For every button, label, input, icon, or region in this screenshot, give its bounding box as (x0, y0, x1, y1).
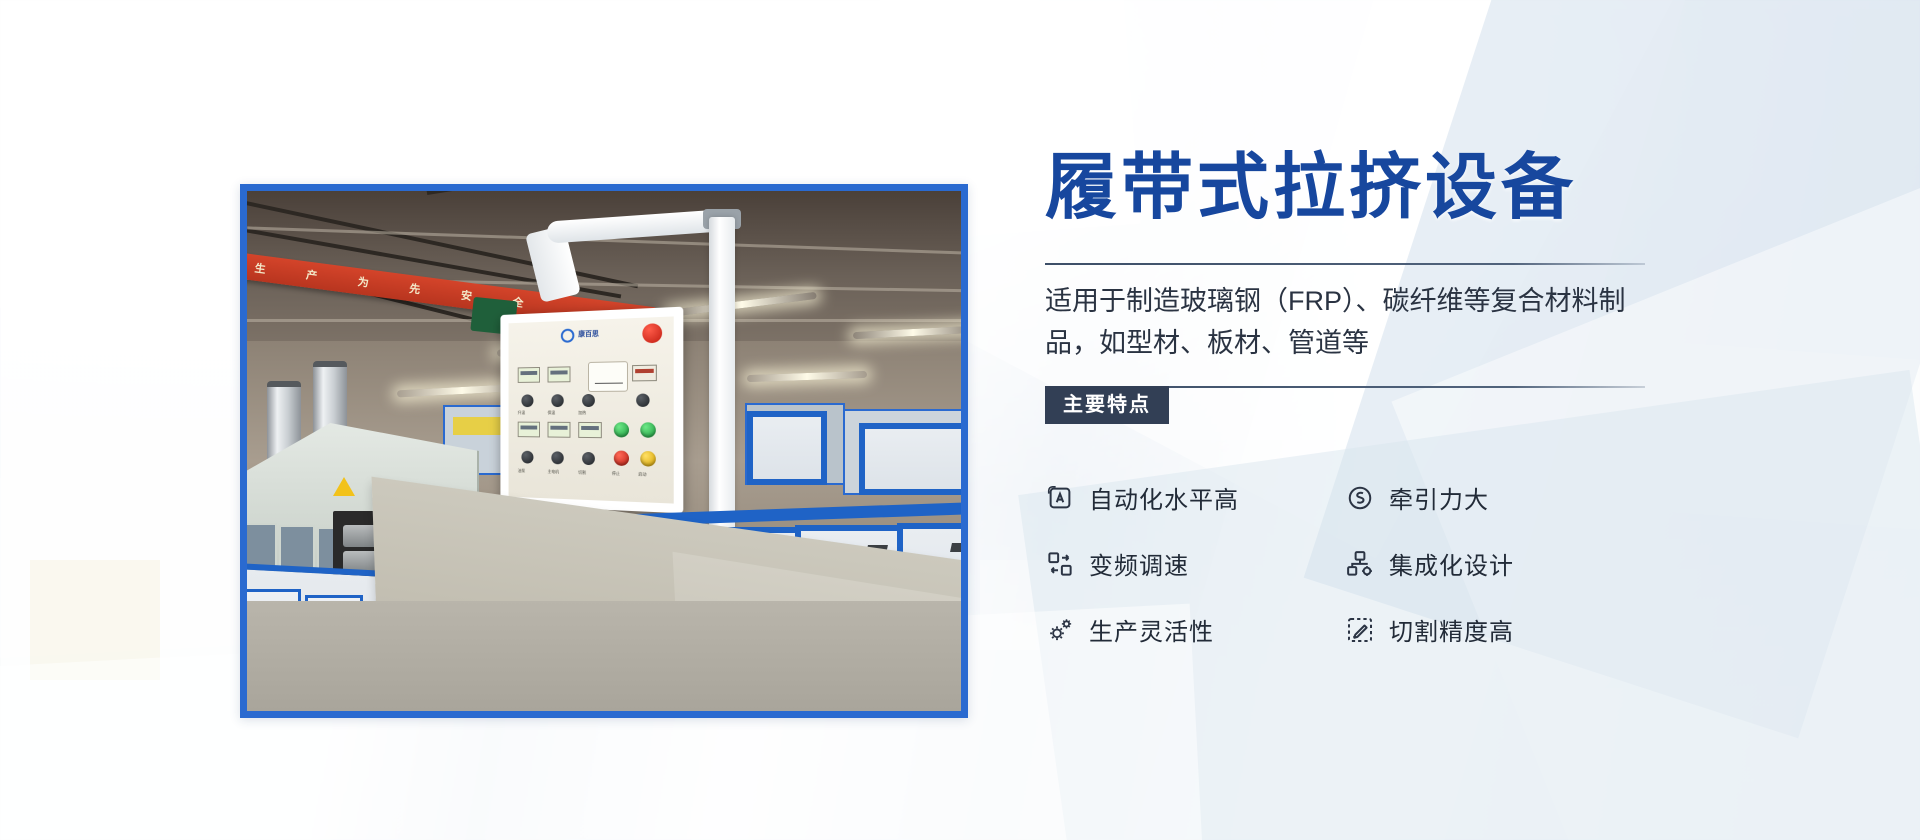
feature-label: 变频调速 (1089, 546, 1189, 581)
product-photo-frame: 生 产 为 先 安 全 (240, 184, 968, 718)
machine-cabinet (859, 423, 961, 495)
factory-floor (247, 601, 961, 711)
gears-icon (1045, 615, 1075, 645)
page-title: 履带式拉挤设备 (1045, 150, 1665, 228)
auto-a-icon (1045, 483, 1075, 513)
warning-triangle-icon (333, 477, 355, 496)
status-lamp-yellow (640, 451, 656, 467)
feature-label: 集成化设计 (1389, 546, 1514, 581)
features-badge: 主要特点 (1045, 386, 1169, 424)
feature-item-flexibility[interactable]: 生产灵活性 (1045, 612, 1331, 647)
feature-label: 切割精度高 (1389, 612, 1514, 647)
control-panel: 康百思 升温 保温 加热 (500, 307, 683, 514)
feature-label: 自动化水平高 (1089, 480, 1239, 515)
frequency-convert-icon (1045, 549, 1075, 579)
sitemap-gear-icon (1345, 549, 1375, 579)
feature-item-automation[interactable]: 自动化水平高 (1045, 480, 1331, 515)
panel-logo-icon (561, 329, 574, 343)
status-lamp-red (614, 450, 629, 466)
precision-pen-icon (1345, 615, 1375, 645)
feature-item-cutting[interactable]: 切割精度高 (1345, 612, 1631, 647)
product-photo: 生 产 为 先 安 全 (247, 191, 961, 711)
features-header: 主要特点 (1045, 386, 1645, 426)
status-lamp-green (614, 422, 629, 437)
feature-item-frequency[interactable]: 变频调速 (1045, 546, 1331, 581)
banner-content: 履带式拉挤设备 适用于制造玻璃钢（FRP）、碳纤维等复合材料制品，如型材、板材、… (1045, 150, 1665, 647)
features-grid: 自动化水平高 牵引力大 (1045, 480, 1645, 647)
feature-item-traction[interactable]: 牵引力大 (1345, 480, 1631, 515)
traction-wave-icon (1345, 483, 1375, 513)
divider-top (1045, 263, 1645, 265)
feature-label: 生产灵活性 (1089, 612, 1214, 647)
emergency-stop-button[interactable] (642, 323, 662, 343)
status-lamp-green (640, 422, 656, 438)
product-banner: 生 产 为 先 安 全 (0, 0, 1920, 840)
analog-meter (588, 361, 628, 392)
feature-label: 牵引力大 (1389, 480, 1489, 515)
feature-item-integration[interactable]: 集成化设计 (1345, 546, 1631, 581)
panel-brand: 康百思 (578, 329, 599, 340)
machine-cabinet (747, 411, 827, 485)
product-description: 适用于制造玻璃钢（FRP）、碳纤维等复合材料制品，如型材、板材、管道等 (1045, 281, 1645, 365)
